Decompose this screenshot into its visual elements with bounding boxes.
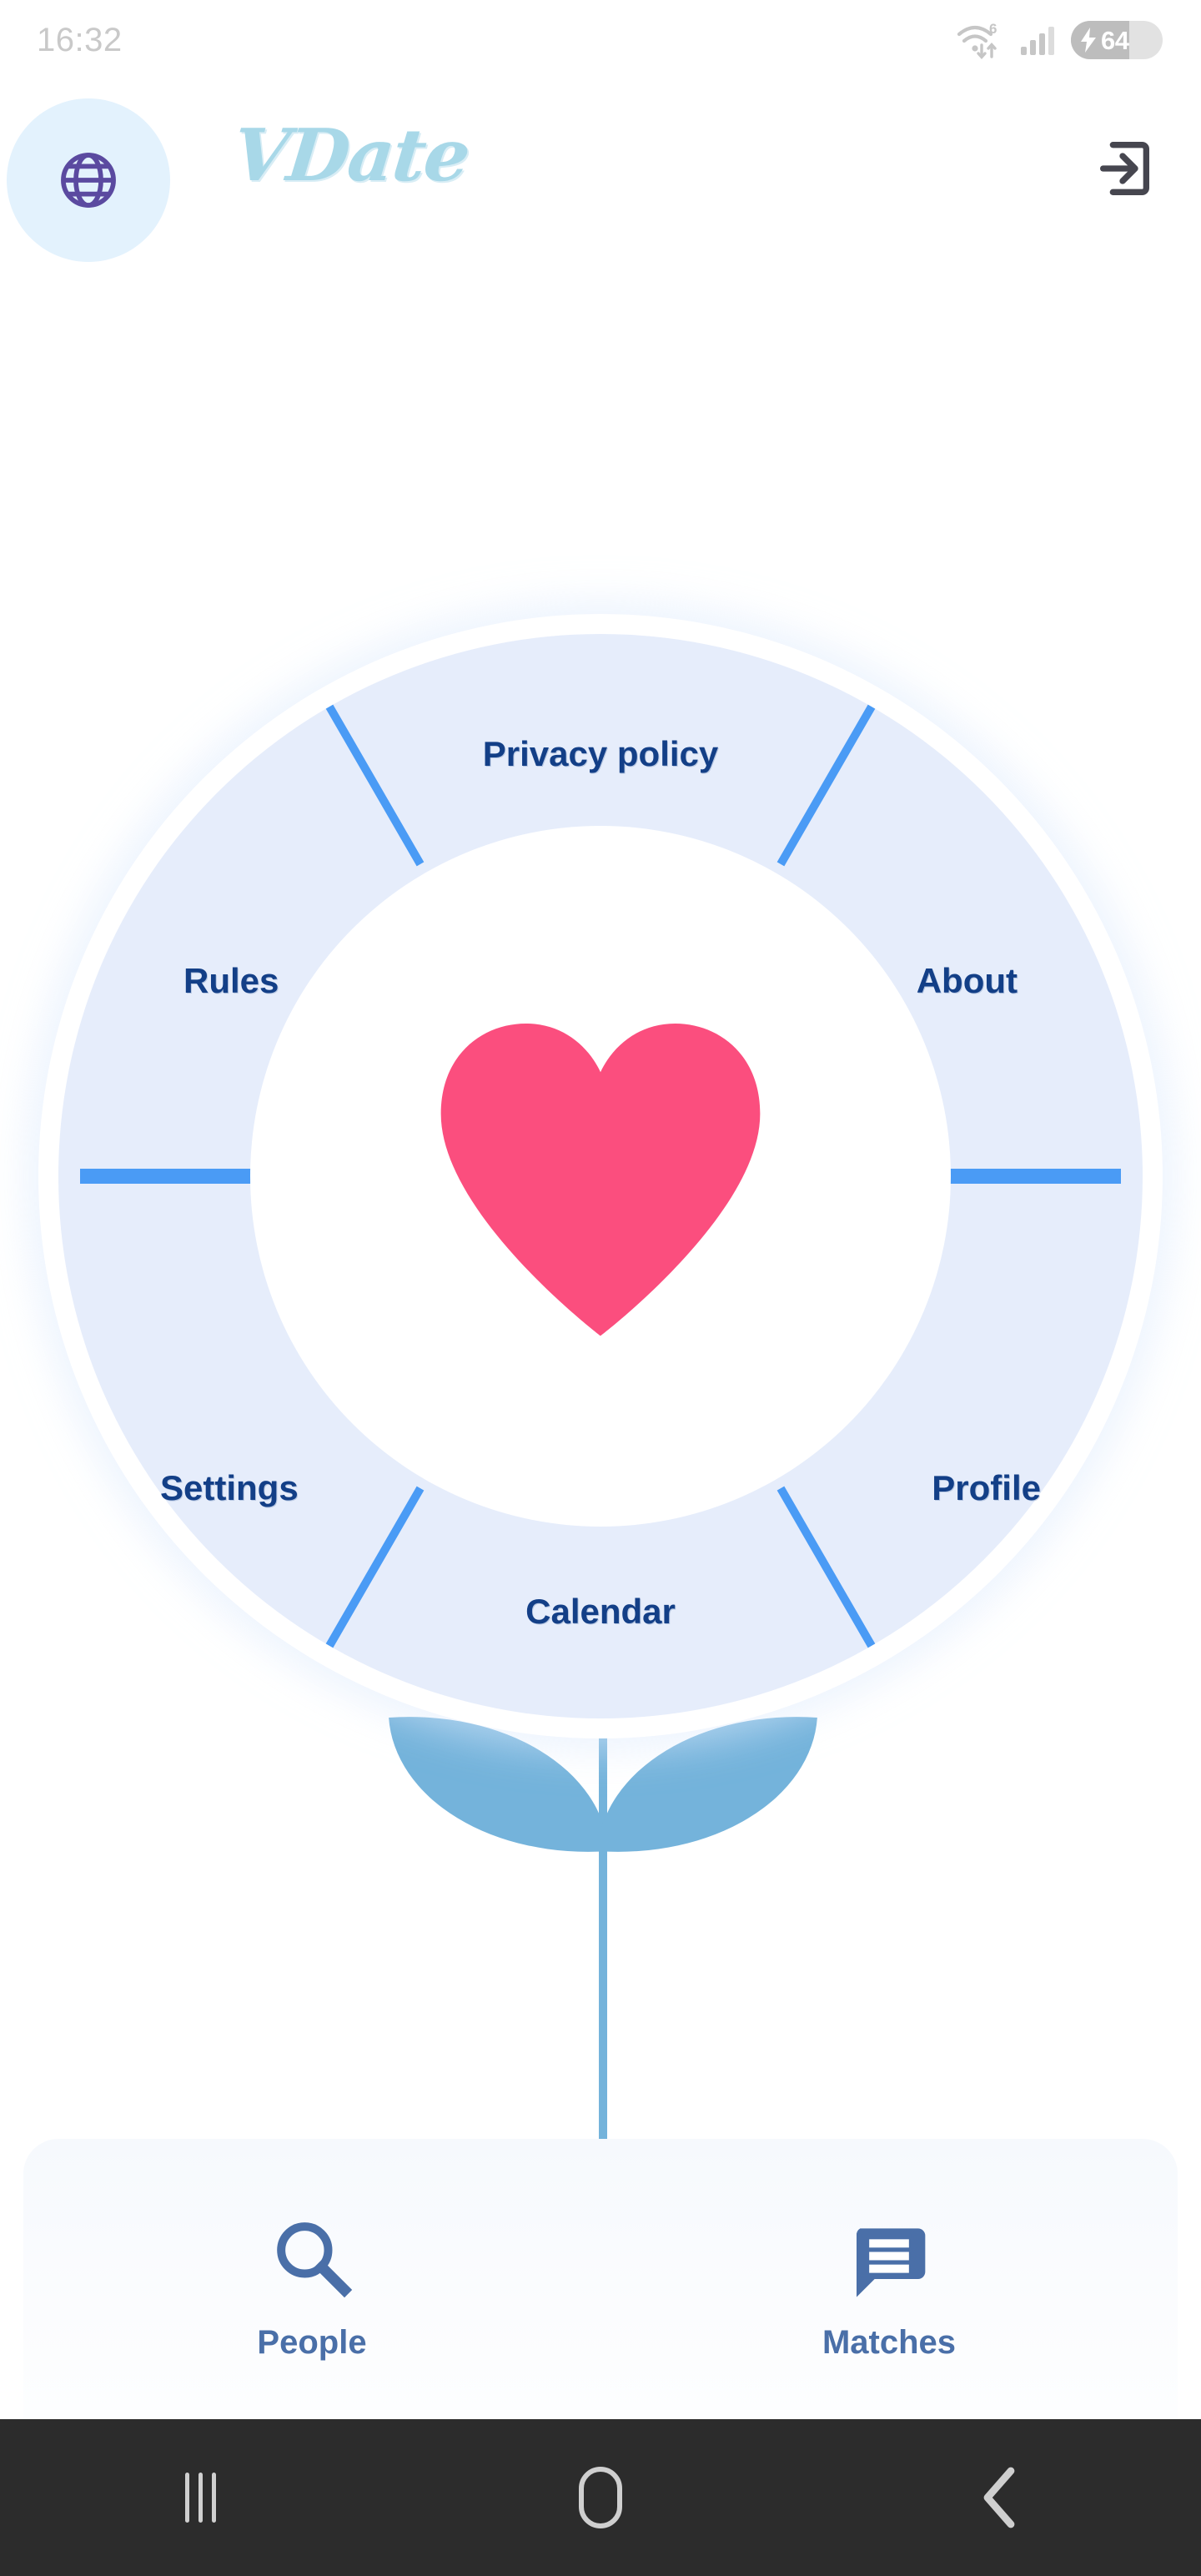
home-icon: [579, 2467, 622, 2528]
home-button[interactable]: [400, 2467, 801, 2528]
back-button[interactable]: [801, 2466, 1201, 2529]
battery-indicator: 64: [1071, 21, 1163, 59]
wifi-6-icon: 6: [956, 19, 1008, 61]
wheel-item-privacy-policy[interactable]: Privacy policy: [483, 734, 719, 774]
app-title: VDate: [229, 113, 473, 198]
status-clock: 16:32: [37, 22, 123, 59]
nav-tab-people[interactable]: People: [23, 2139, 600, 2419]
android-navigation-bar: [0, 2419, 1201, 2576]
wheel-item-profile[interactable]: Profile: [932, 1468, 1041, 1508]
wheel-divider: [326, 1487, 425, 1648]
recents-button[interactable]: [0, 2473, 400, 2523]
nav-tab-label: People: [257, 2324, 366, 2362]
wheel-divider: [777, 1487, 876, 1648]
language-button[interactable]: [7, 98, 170, 262]
heart-button[interactable]: [427, 1013, 774, 1340]
bottom-navigation: People Matches: [23, 2139, 1178, 2419]
battery-level: 64: [1101, 28, 1128, 53]
chat-bubble-icon: [846, 2214, 932, 2301]
cellular-signal-icon: [1019, 23, 1059, 57]
search-icon: [269, 2214, 355, 2301]
menu-wheel: Privacy policy About Profile Calendar Se…: [38, 614, 1163, 1738]
logout-button[interactable]: [1084, 130, 1161, 207]
app-screen: 16:32 6: [0, 0, 1201, 2576]
svg-text:6: 6: [989, 21, 997, 37]
globe-icon: [57, 148, 120, 212]
recents-icon: [185, 2473, 216, 2523]
wheel-divider: [939, 1169, 1121, 1184]
back-chevron-icon: [979, 2466, 1023, 2529]
wheel-item-settings[interactable]: Settings: [160, 1468, 299, 1508]
app-header: VDate: [0, 80, 1201, 247]
battery-charging-icon: [1079, 28, 1098, 53]
wheel-item-about[interactable]: About: [917, 961, 1018, 1001]
heart-icon: [427, 1013, 774, 1340]
nav-tab-matches[interactable]: Matches: [600, 2139, 1178, 2419]
wheel-divider: [777, 705, 876, 867]
wheel-petal-ring: Privacy policy About Profile Calendar Se…: [58, 634, 1143, 1718]
logout-icon: [1089, 135, 1156, 202]
flower-menu: Privacy policy About Profile Calendar Se…: [0, 250, 1201, 2136]
wheel-divider: [326, 705, 425, 867]
status-icons: 6 64: [956, 19, 1163, 61]
status-bar: 16:32 6: [0, 0, 1201, 80]
wheel-item-calendar[interactable]: Calendar: [525, 1592, 676, 1632]
nav-tab-label: Matches: [822, 2324, 956, 2362]
wheel-item-rules[interactable]: Rules: [183, 961, 279, 1001]
wheel-divider: [80, 1169, 262, 1184]
